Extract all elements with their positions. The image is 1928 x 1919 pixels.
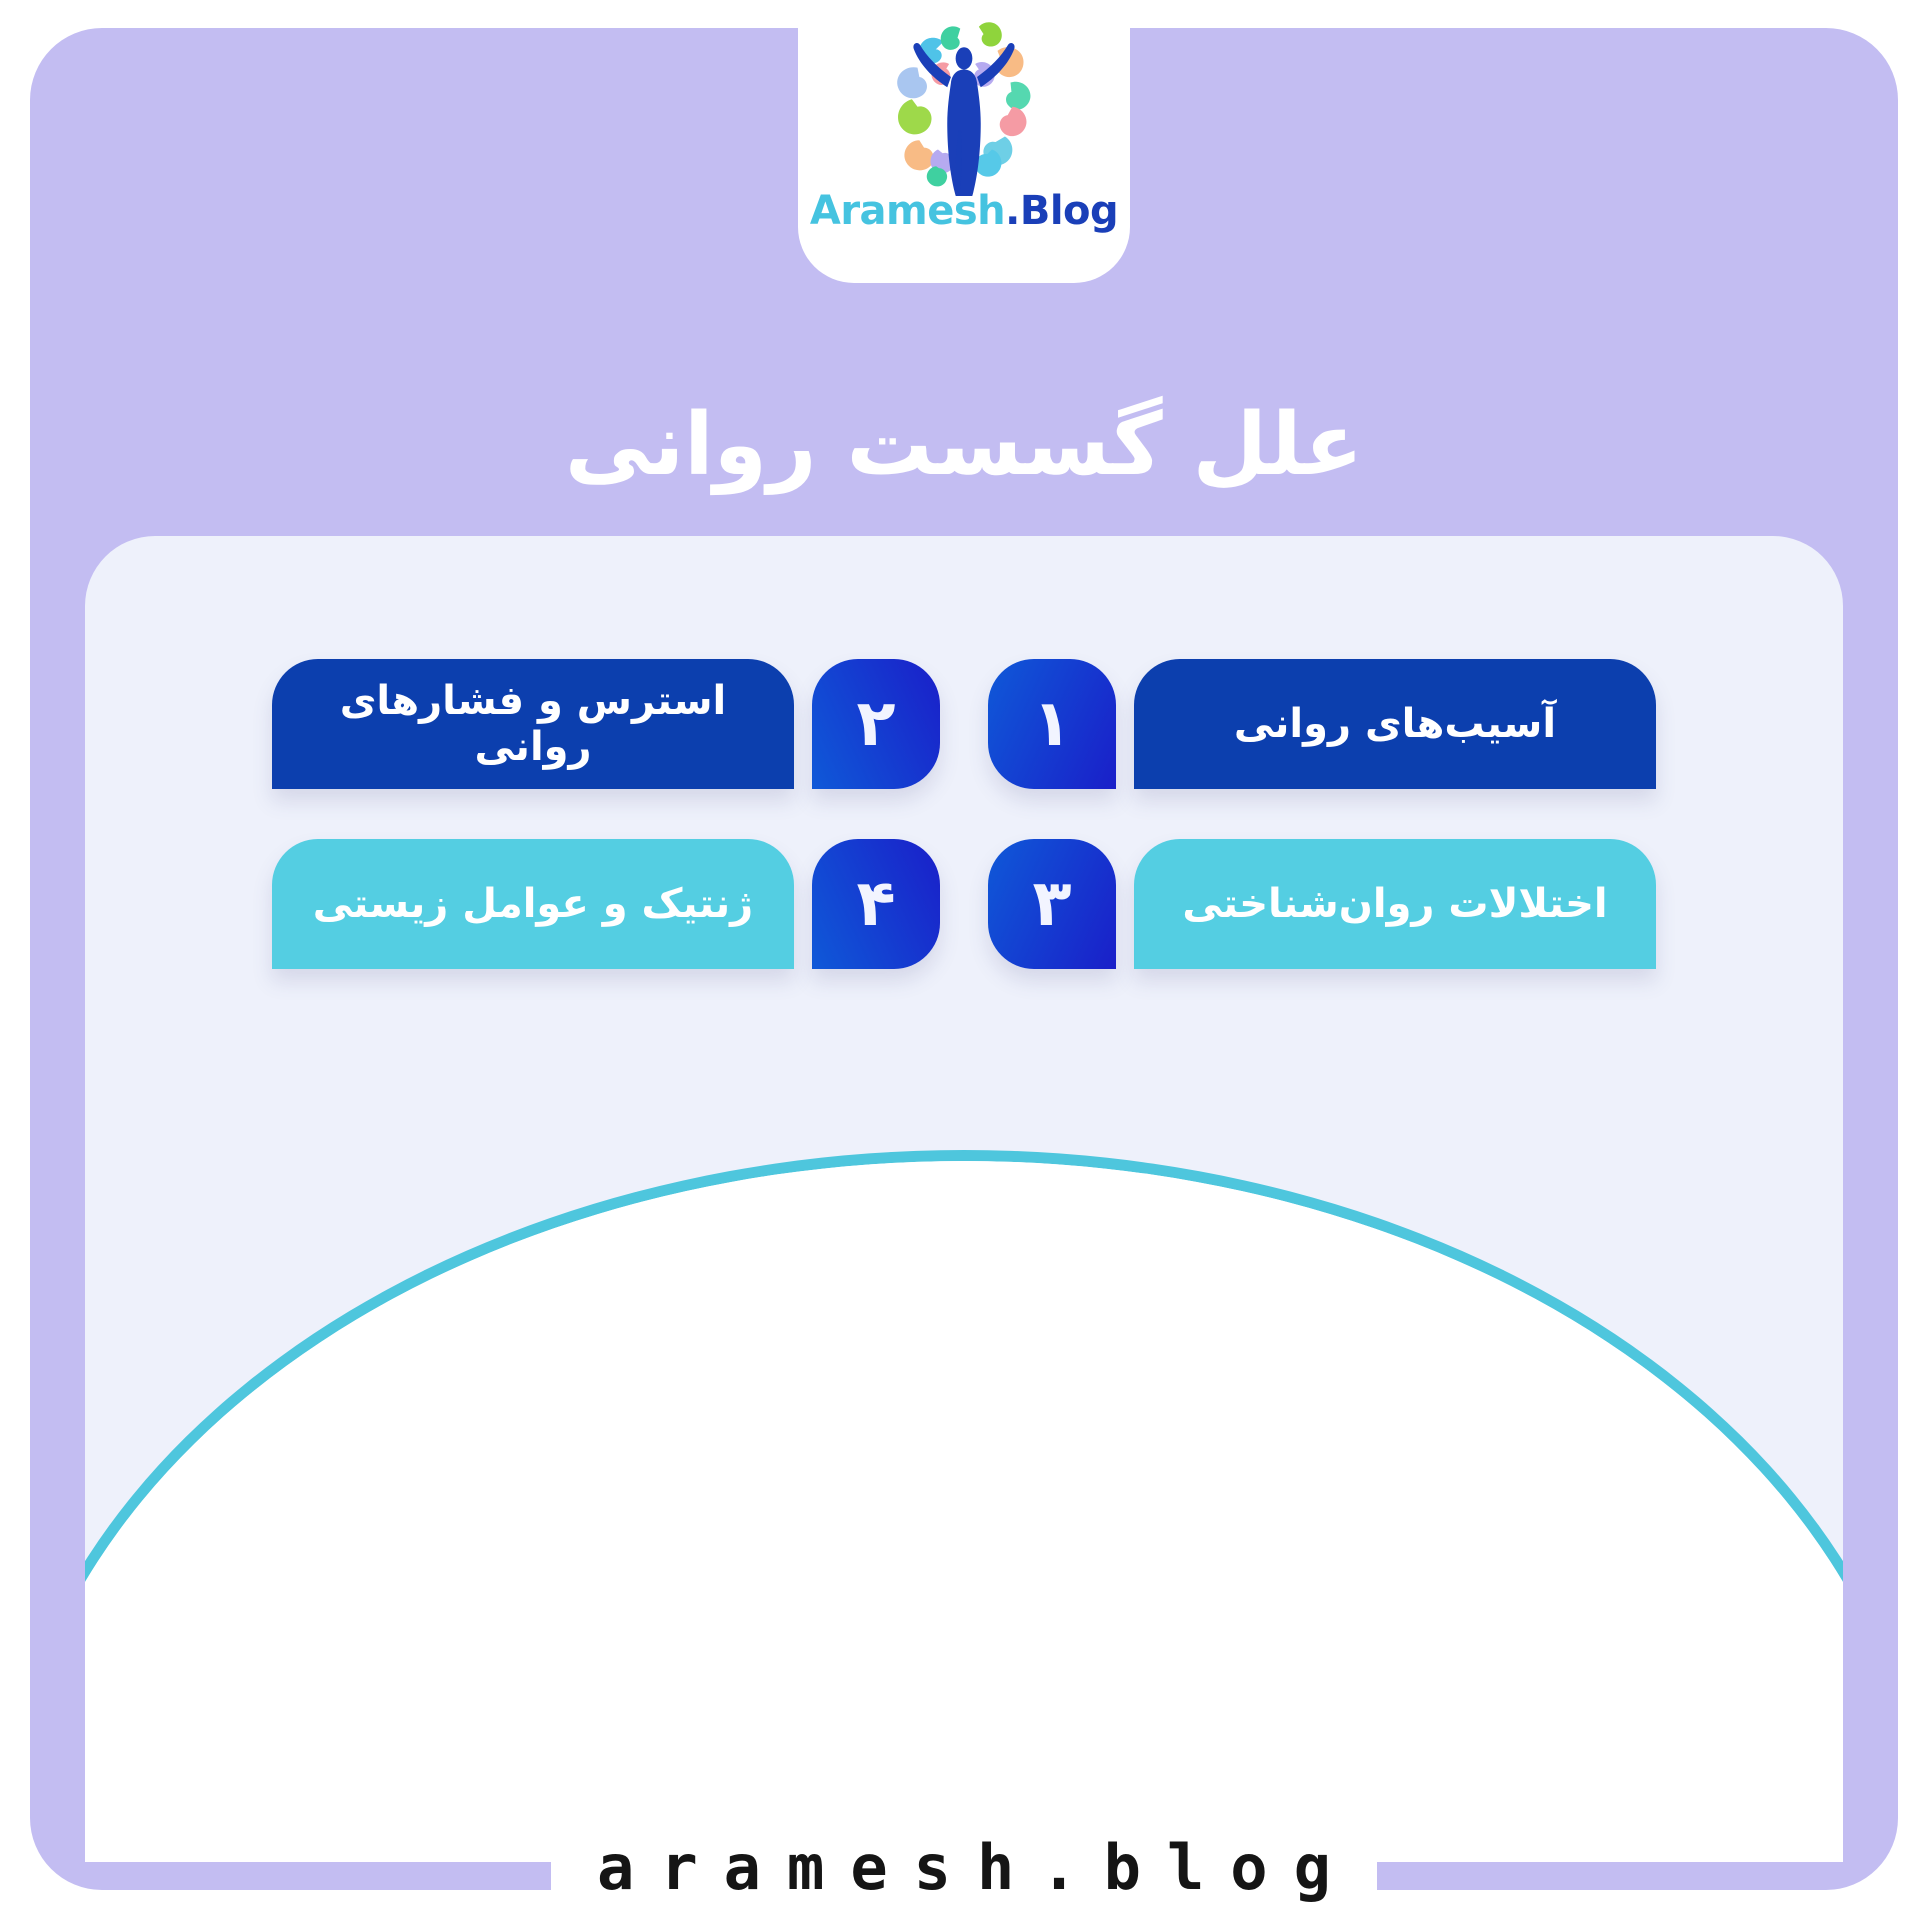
list-item-1-number: ۱ [1032,687,1071,761]
brand-wordmark: Aramesh.Blog [810,188,1118,234]
causes-list: آسیب‌های روانی ۱ ۲ استرس و فشارهای روانی… [85,536,1843,1019]
list-item-3-label-bar[interactable]: اختلالات روان‌شناختی [1134,839,1656,969]
list-row: اختلالات روان‌شناختی ۳ ۴ ژنتیک و عوامل ز… [85,839,1843,1019]
site-url-pill: aramesh.blog [551,1787,1377,1919]
list-item-2-number-badge: ۲ [812,659,940,789]
list-item-1-label-bar[interactable]: آسیب‌های روانی [1134,659,1656,789]
list-row: آسیب‌های روانی ۱ ۲ استرس و فشارهای روانی [85,659,1843,839]
list-item-4-label-bar[interactable]: ژنتیک و عوامل زیستی [272,839,794,969]
list-item-4-label: ژنتیک و عوامل زیستی [313,881,753,927]
list-item-2-label: استرس و فشارهای روانی [298,678,768,770]
site-url-text: aramesh.blog [571,1831,1357,1919]
page-title: علل گسست روانی [0,396,1928,495]
list-item-3-number: ۳ [1032,867,1071,941]
aramesh-tree-person-logo-icon [871,10,1057,196]
distressed-woman-photo [85,1161,1843,1862]
brand-wordmark-primary: Aramesh [810,188,1005,234]
list-item-2-label-bar[interactable]: استرس و فشارهای روانی [272,659,794,789]
list-item-3-number-badge: ۳ [988,839,1116,969]
photo-arc-frame [85,1150,1843,1862]
list-item-2-number: ۲ [856,687,895,761]
list-item-1-label: آسیب‌های روانی [1234,701,1556,747]
list-item-4-number: ۴ [856,867,895,941]
brand-logo-tile: Aramesh.Blog [798,0,1130,283]
list-item-4-number-badge: ۴ [812,839,940,969]
list-item-3-label: اختلالات روان‌شناختی [1182,881,1607,927]
infographic-canvas: Aramesh.Blog علل گسست روانی آسیب‌های روا… [0,0,1928,1919]
photo-section [85,1150,1843,1862]
brand-wordmark-secondary: .Blog [1005,188,1118,234]
list-item-1-number-badge: ۱ [988,659,1116,789]
